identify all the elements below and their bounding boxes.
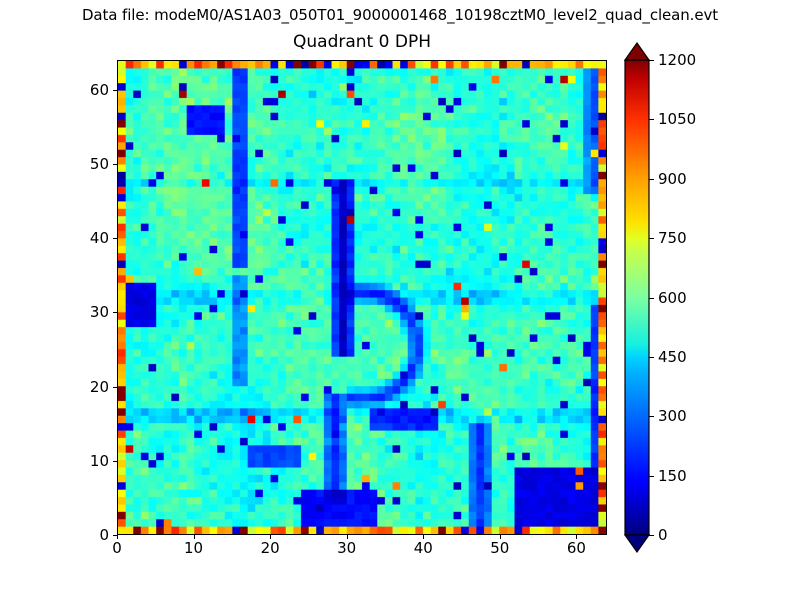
y-tick-label: 60 xyxy=(71,81,109,99)
colorbar-tick-label: 1050 xyxy=(658,110,696,128)
colorbar-tick-mark xyxy=(649,60,654,61)
figure-canvas: Data file: modeM0/AS1A03_050T01_90000014… xyxy=(0,0,800,600)
x-tick-label: 20 xyxy=(261,539,280,557)
y-tick-label: 10 xyxy=(71,452,109,470)
y-tick-mark xyxy=(113,461,117,462)
y-tick-label: 20 xyxy=(71,378,109,396)
x-tick-label: 60 xyxy=(567,539,586,557)
page-title: Quadrant 0 DPH xyxy=(117,32,607,52)
y-tick-label: 50 xyxy=(71,155,109,173)
x-tick-label: 10 xyxy=(184,539,203,557)
y-tick-label: 30 xyxy=(71,303,109,321)
x-tick-label: 50 xyxy=(490,539,509,557)
data-file-suptitle: Data file: modeM0/AS1A03_050T01_90000014… xyxy=(0,6,800,24)
colorbar-tick-mark xyxy=(649,179,654,180)
colorbar-tick-label: 750 xyxy=(658,229,687,247)
x-tick-label: 0 xyxy=(112,539,122,557)
y-tick-label: 40 xyxy=(71,229,109,247)
colorbar-tick-label: 450 xyxy=(658,348,687,366)
x-tick-label: 30 xyxy=(337,539,356,557)
colorbar-tick-mark xyxy=(649,119,654,120)
colorbar-tick-label: 150 xyxy=(658,467,687,485)
colorbar-tick-label: 0 xyxy=(658,526,668,544)
colorbar-tick-mark xyxy=(649,238,654,239)
y-tick-mark xyxy=(113,238,117,239)
y-tick-mark xyxy=(113,90,117,91)
colorbar-tick-mark xyxy=(649,298,654,299)
y-tick-mark xyxy=(113,387,117,388)
y-tick-label: 0 xyxy=(71,526,109,544)
colorbar-tick-mark xyxy=(649,535,654,536)
dph-heatmap-image[interactable] xyxy=(118,61,606,534)
colorbar-gradient xyxy=(625,60,649,535)
colorbar-tick-label: 1200 xyxy=(658,51,696,69)
heatmap-axes[interactable] xyxy=(117,60,607,535)
y-tick-mark xyxy=(113,535,117,536)
x-tick-label: 40 xyxy=(414,539,433,557)
colorbar-tick-label: 600 xyxy=(658,289,687,307)
y-tick-mark xyxy=(113,312,117,313)
colorbar-tick-label: 300 xyxy=(658,407,687,425)
colorbar-tick-mark xyxy=(649,357,654,358)
colorbar-tick-mark xyxy=(649,476,654,477)
colorbar[interactable] xyxy=(625,60,649,535)
colorbar-tick-label: 900 xyxy=(658,170,687,188)
colorbar-tick-mark xyxy=(649,416,654,417)
y-tick-mark xyxy=(113,164,117,165)
